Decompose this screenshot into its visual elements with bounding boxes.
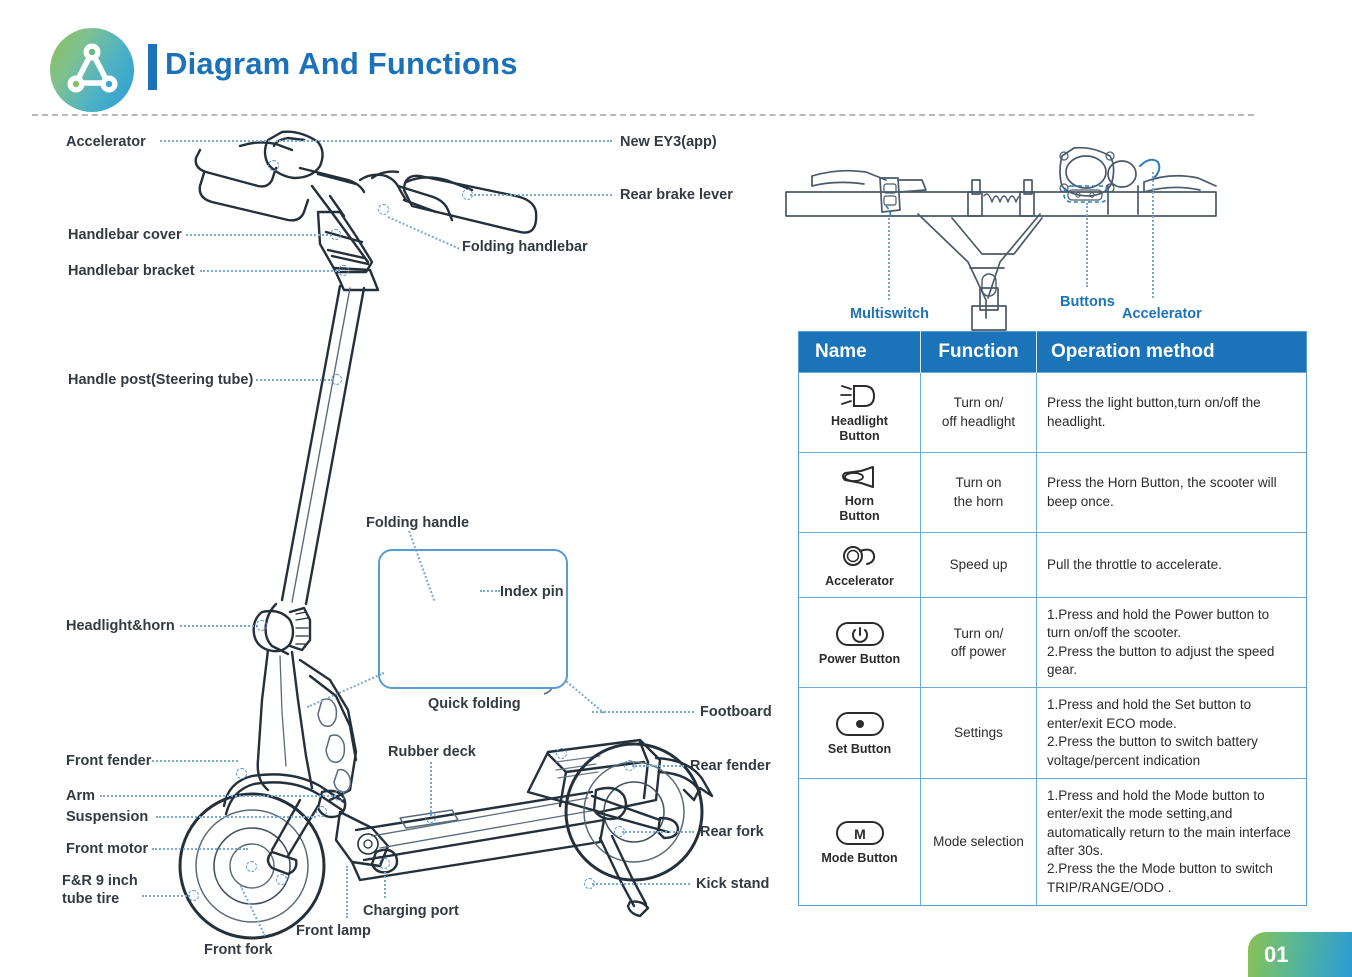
label-accelerator-handlebar: Accelerator (1122, 305, 1202, 323)
marker-rear-brake-lever (462, 189, 473, 200)
cell-function: Settings (921, 688, 1037, 778)
label-suspension: Suspension (66, 808, 148, 826)
leader-handlebar-cover (186, 234, 332, 236)
cell-operation: 1.Press and hold the Set button to enter… (1037, 688, 1307, 778)
table-row: Accelerator Speed up Pull the throttle t… (799, 533, 1307, 598)
cell-name: M Mode Button (799, 778, 921, 905)
marker-front-motor (246, 861, 257, 872)
icon-label-line2: Button (839, 509, 879, 523)
page-number-badge: 01 (1248, 932, 1352, 977)
horn-icon (803, 461, 916, 491)
marker-handlebar-bracket (338, 265, 349, 276)
marker-rear-fork (614, 826, 625, 837)
marker-rear-fender (624, 760, 635, 771)
label-index-pin: Index pin (500, 583, 564, 601)
table-row: Set Button Settings 1.Press and hold the… (799, 688, 1307, 778)
page-title: Diagram And Functions (165, 46, 518, 82)
label-footboard: Footboard (700, 703, 772, 721)
label-tube-tire: F&R 9 inch tube tire (62, 872, 138, 908)
leader-front-fork (240, 885, 266, 936)
cell-function: Mode selection (921, 778, 1037, 905)
folding-detail-inset (378, 549, 568, 689)
marker-suspension (316, 806, 327, 817)
leader-front-motor (152, 848, 248, 850)
leader-handle-post (256, 379, 334, 381)
table-header-row: Name Function Operation method (799, 332, 1307, 373)
column-header-operation: Operation method (1037, 332, 1307, 373)
leader-folding-handlebar (388, 216, 460, 250)
label-handle-post: Handle post(Steering tube) (68, 371, 253, 389)
leader-new-ey3-app (276, 140, 612, 142)
label-front-fork: Front fork (204, 941, 272, 959)
cell-name: Horn Button (799, 453, 921, 533)
cell-function: Speed up (921, 533, 1037, 598)
icon-label: Accelerator (803, 574, 916, 589)
marker-headlight-horn (256, 620, 267, 631)
leader-multiswitch (888, 218, 890, 300)
label-folding-handlebar: Folding handlebar (462, 238, 588, 256)
label-rubber-deck: Rubber deck (388, 743, 476, 761)
leader-front-lamp (346, 866, 348, 918)
leader-handlebar-bracket (200, 270, 340, 272)
marker-tube-tire (188, 890, 199, 901)
column-header-function: Function (921, 332, 1037, 373)
marker-folding-handlebar (378, 204, 389, 215)
marker-kick-stand (584, 878, 595, 889)
label-handlebar-bracket: Handlebar bracket (68, 262, 195, 280)
label-folding-handle: Folding handle (366, 514, 469, 532)
label-multiswitch: Multiswitch (850, 305, 929, 323)
marker-charging-port (379, 858, 390, 869)
cell-operation: Pull the throttle to accelerate. (1037, 533, 1307, 598)
marker-front-fork (276, 874, 287, 885)
label-tube-tire-line2: tube tire (62, 891, 119, 907)
header-divider (32, 114, 1254, 116)
leader-accelerator-handlebar (1152, 172, 1154, 298)
table-row: Power Button Turn on/ off power 1.Press … (799, 598, 1307, 688)
table-row: M Mode Button Mode selection 1.Press and… (799, 778, 1307, 905)
label-kick-stand: Kick stand (696, 875, 769, 893)
cell-name: Headlight Button (799, 373, 921, 453)
label-arm: Arm (66, 787, 95, 805)
page-header: Diagram And Functions (0, 0, 1352, 118)
icon-label: Set Button (803, 742, 916, 757)
leader-rear-brake-lever (470, 194, 612, 196)
marker-footboard (556, 748, 567, 759)
leader-charging-port (384, 872, 386, 898)
label-rear-fork: Rear fork (700, 823, 764, 841)
cell-operation: Press the light button,turn on/off the h… (1037, 373, 1307, 453)
table-row: Headlight Button Turn on/ off headlight … (799, 373, 1307, 453)
label-quick-folding: Quick folding (428, 695, 521, 713)
icon-label-line2: Button (839, 429, 879, 443)
marker-accelerator (268, 160, 279, 171)
cell-operation: 1.Press and hold the Power button to tur… (1037, 598, 1307, 688)
cell-name: Set Button (799, 688, 921, 778)
cell-operation: Press the Horn Button, the scooter will … (1037, 453, 1307, 533)
mode-icon: M (803, 818, 916, 848)
marker-arm (334, 790, 345, 801)
label-buttons: Buttons (1060, 293, 1115, 311)
leader-accelerator (160, 140, 270, 142)
mode-icon-glyph: M (854, 826, 866, 842)
power-icon (803, 619, 916, 649)
accelerator-icon (803, 541, 916, 571)
leader-rear-fender (632, 765, 684, 767)
label-tube-tire-line1: F&R 9 inch (62, 873, 138, 889)
leader-buttons (1086, 203, 1088, 287)
icon-label: Mode Button (803, 851, 916, 866)
leader-headlight-horn (180, 625, 258, 627)
cell-operation: 1.Press and hold the Mode button to ente… (1037, 778, 1307, 905)
page-root: Diagram And Functions (0, 0, 1352, 977)
leader-rear-fork (622, 831, 694, 833)
table-row: Horn Button Turn on the horn Press the H… (799, 453, 1307, 533)
cell-function: Turn on the horn (921, 453, 1037, 533)
marker-rubber-deck (425, 812, 436, 823)
label-front-motor: Front motor (66, 840, 148, 858)
label-rear-fender: Rear fender (690, 757, 771, 775)
leader-tube-tire (142, 895, 190, 897)
node-graph-icon (50, 28, 134, 112)
marker-handle-post (331, 374, 342, 385)
icon-label: Power Button (803, 652, 916, 667)
label-accelerator: Accelerator (66, 133, 146, 151)
title-accent-bar (148, 44, 157, 90)
leader-suspension (156, 816, 316, 818)
leader-rubber-deck (430, 762, 432, 816)
label-rear-brake-lever: Rear brake lever (620, 186, 733, 204)
label-charging-port: Charging port (363, 902, 459, 920)
leader-inset-link (307, 672, 385, 708)
marker-front-fender (236, 768, 247, 779)
column-header-name: Name (799, 332, 921, 373)
marker-handlebar-cover (330, 229, 341, 240)
cell-name: Power Button (799, 598, 921, 688)
label-handlebar-cover: Handlebar cover (68, 226, 182, 244)
label-headlight-horn: Headlight&horn (66, 617, 175, 635)
headlight-icon (803, 381, 916, 411)
set-icon (803, 709, 916, 739)
label-front-fender: Front fender (66, 752, 151, 770)
leader-front-fender (152, 760, 238, 762)
icon-label: Horn Button (803, 494, 916, 524)
label-front-lamp: Front lamp (296, 922, 371, 940)
icon-label-line1: Horn (845, 494, 874, 508)
label-new-ey3-app: New EY3(app) (620, 133, 717, 151)
cell-function: Turn on/ off power (921, 598, 1037, 688)
cell-name: Accelerator (799, 533, 921, 598)
icon-label-line1: Headlight (831, 414, 888, 428)
leader-footboard (592, 711, 694, 713)
icon-label: Headlight Button (803, 414, 916, 444)
leader-arm (100, 795, 336, 797)
function-table: Name Function Operation method Headlight (798, 331, 1307, 906)
leader-index-pin (480, 590, 500, 592)
leader-kick-stand (592, 883, 690, 885)
cell-function: Turn on/ off headlight (921, 373, 1037, 453)
